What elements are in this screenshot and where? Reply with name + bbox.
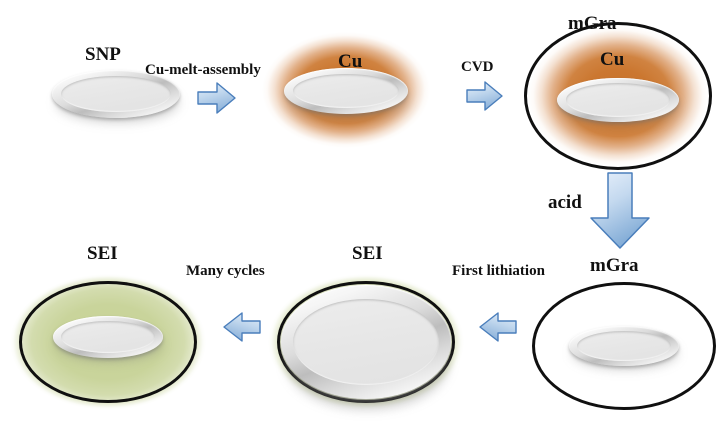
arrow-down-acid — [588, 172, 652, 250]
stage-mgra-cu — [524, 22, 712, 170]
silicon-nanoplate-disc — [569, 326, 679, 366]
stage-cu-melt — [262, 32, 430, 148]
silicon-nanoplate-disc — [53, 316, 163, 358]
disc-face — [577, 331, 672, 361]
disc-face — [61, 321, 156, 353]
disc-face — [293, 299, 439, 386]
stage-label-cu: Cu — [338, 52, 362, 71]
stage-label-cu-inner: Cu — [600, 50, 624, 69]
stage-mgra-hollow — [532, 282, 716, 410]
disc-face — [566, 83, 671, 116]
step-label-first-lithiation: First lithiation — [452, 264, 545, 279]
stage-sei-cycled — [10, 274, 206, 410]
stage-sei-lithiated — [268, 274, 464, 410]
stage-label-sei-cycled: SEI — [87, 244, 118, 263]
lithiated-silicon-disc — [281, 285, 451, 399]
diagram-canvas: SNP Cu-melt-assembly Cu CVD — [0, 0, 728, 426]
step-label-cu-melt-assembly: Cu-melt-assembly — [145, 63, 261, 78]
silicon-nanoplate-disc — [557, 78, 679, 122]
disc-face — [61, 76, 171, 112]
arrow-left-first-lithiation — [478, 311, 518, 343]
step-label-cvd: CVD — [461, 60, 494, 75]
arrow-right-cvd — [466, 80, 504, 112]
silicon-nanoplate-disc — [284, 68, 408, 114]
stage-label-sei-lithiated: SEI — [352, 244, 383, 263]
arrow-right-cu-melt-assembly — [197, 81, 237, 115]
step-label-acid: acid — [548, 193, 582, 212]
stage-label-mgra-outer: mGra — [568, 14, 617, 33]
arrow-left-many-cycles — [222, 311, 262, 343]
stage-label-mgra-hollow: mGra — [590, 256, 639, 275]
stage-label-snp: SNP — [85, 45, 121, 64]
